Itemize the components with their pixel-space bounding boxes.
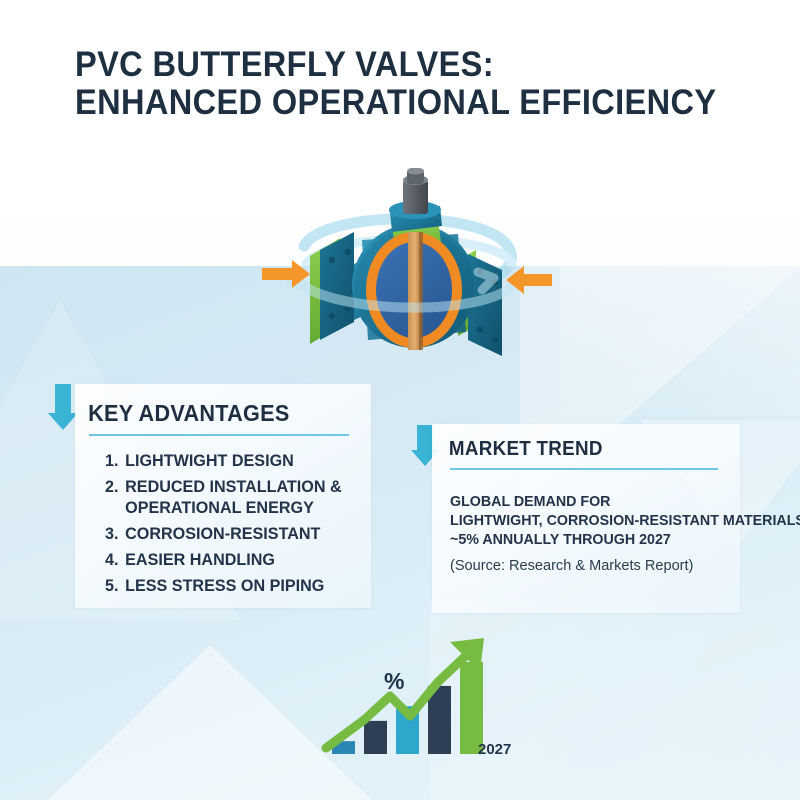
market-trend-rule [450, 468, 718, 470]
list-item: 3. CORROSION-RESISTANT [105, 523, 358, 544]
list-item-label: CORROSION-RESISTANT [125, 523, 358, 544]
market-trend-body: GLOBAL DEMAND FOR LIGHTWIGHT, CORROSION-… [432, 470, 740, 575]
down-arrow-icon-advantages [48, 384, 78, 430]
list-item-number: 2. [105, 476, 118, 518]
arrow-shaft [417, 425, 433, 450]
chart-bar [364, 721, 387, 754]
list-item-label: EASIER HANDLING [125, 549, 358, 570]
arrow-head [48, 413, 78, 430]
list-item-number: 3. [105, 523, 118, 544]
background-facet-right-band [560, 266, 800, 416]
chart-percent-label: % [384, 668, 404, 695]
page-title-line-2: ENHANCED OPERATIONAL EFFICIENCY [75, 84, 689, 122]
infographic-canvas: PVC BUTTERFLY VALVES: ENHANCED OPERATION… [0, 0, 800, 800]
butterfly-valve-illustration [262, 168, 552, 368]
list-item-number: 4. [105, 549, 118, 570]
page-title: PVC BUTTERFLY VALVES: ENHANCED OPERATION… [75, 46, 735, 122]
market-trend-line-2: LIGHTWIGHT, CORROSION-RESISTANT MATERIAL… [450, 511, 726, 530]
market-trend-source: (Source: Research & Markets Report) [450, 556, 731, 575]
chart-year-label: 2027 [478, 741, 511, 758]
market-trend-header: MARKET TREND [432, 424, 740, 470]
market-trend-line-3: ~5% ANNUALLY THROUGH 2027 [450, 530, 726, 549]
key-advantages-heading: KEY ADVANTAGES [75, 384, 353, 427]
key-advantages-list: 1. LIGHTWIGHT DESIGN 2. REDUCED INSTALLA… [75, 436, 371, 596]
key-advantages-header: KEY ADVANTAGES [75, 384, 371, 436]
list-item-label: REDUCED INSTALLATION & OPERATIONAL ENERG… [125, 476, 358, 518]
valve-stem [403, 168, 428, 214]
key-advantages-rule [89, 434, 349, 436]
list-item-number: 5. [105, 575, 118, 596]
list-item: 4. EASIER HANDLING [105, 549, 358, 570]
arrow-shaft [55, 384, 71, 413]
list-item: 2. REDUCED INSTALLATION & OPERATIONAL EN… [105, 476, 358, 518]
page-title-line-1: PVC BUTTERFLY VALVES: [75, 46, 689, 84]
list-item: 5. LESS STRESS ON PIPING [105, 575, 358, 596]
list-item-label: LESS STRESS ON PIPING [125, 575, 358, 596]
key-advantages-panel: KEY ADVANTAGES 1. LIGHTWIGHT DESIGN 2. R… [75, 384, 371, 608]
market-trend-heading: MARKET TREND [432, 424, 722, 461]
list-item: 1. LIGHTWIGHT DESIGN [105, 450, 358, 471]
list-item-label: LIGHTWIGHT DESIGN [125, 450, 358, 471]
market-trend-line-1: GLOBAL DEMAND FOR [450, 492, 726, 511]
list-item-number: 1. [105, 450, 118, 471]
market-trend-panel: MARKET TREND GLOBAL DEMAND FOR LIGHTWIGH… [432, 424, 740, 613]
